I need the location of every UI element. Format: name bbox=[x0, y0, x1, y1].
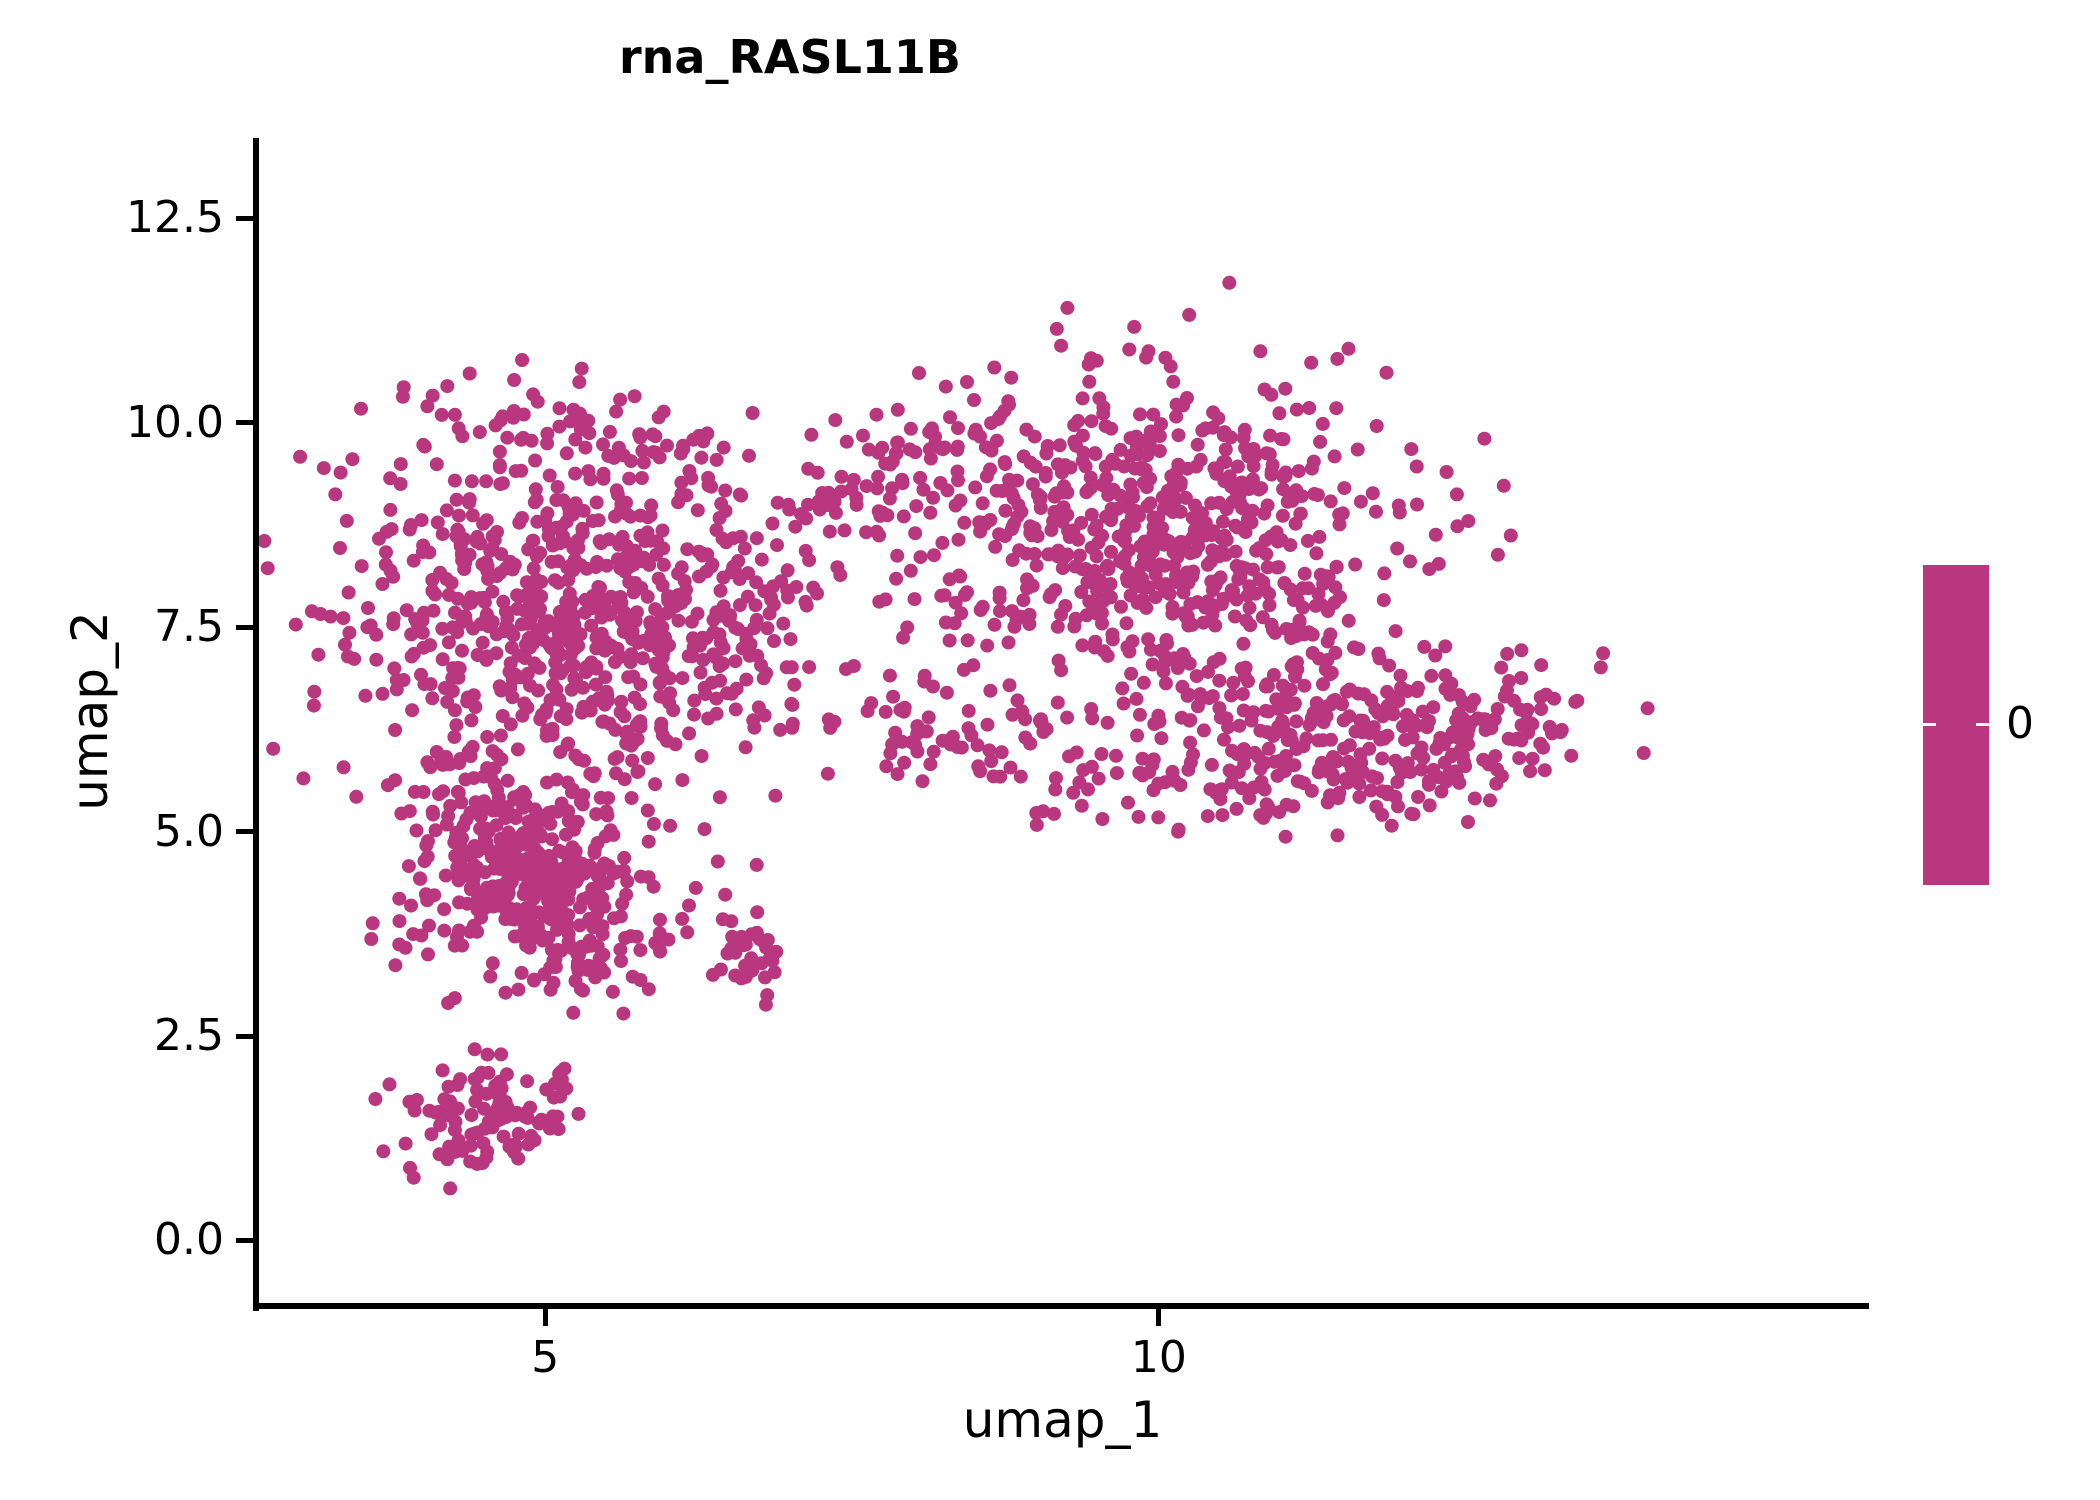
scatter-point bbox=[1283, 490, 1297, 504]
scatter-point bbox=[520, 575, 534, 589]
scatter-point bbox=[449, 718, 463, 732]
scatter-point bbox=[1130, 729, 1144, 743]
scatter-point bbox=[533, 712, 547, 726]
scatter-point bbox=[891, 767, 905, 781]
scatter-point bbox=[314, 607, 328, 621]
scatter-point bbox=[648, 777, 662, 791]
scatter-point bbox=[1006, 553, 1020, 567]
scatter-point bbox=[656, 578, 670, 592]
scatter-point bbox=[800, 599, 814, 613]
scatter-point bbox=[1030, 559, 1044, 573]
scatter-point bbox=[1166, 505, 1180, 519]
x-axis-spine bbox=[253, 1303, 1869, 1309]
scatter-point bbox=[1420, 720, 1434, 734]
scatter-point bbox=[1536, 741, 1550, 755]
scatter-point bbox=[533, 661, 547, 675]
scatter-point bbox=[689, 881, 703, 895]
scatter-point bbox=[1497, 479, 1511, 493]
scatter-point bbox=[621, 670, 635, 684]
scatter-point bbox=[628, 544, 642, 558]
scatter-point bbox=[1641, 701, 1655, 715]
scatter-point bbox=[1079, 459, 1093, 473]
scatter-point bbox=[358, 689, 372, 703]
scatter-point bbox=[1324, 733, 1338, 747]
scatter-point bbox=[1127, 320, 1141, 334]
scatter-point bbox=[1249, 587, 1263, 601]
scatter-point bbox=[684, 471, 698, 485]
scatter-point bbox=[517, 603, 531, 617]
scatter-point bbox=[1199, 421, 1213, 435]
scatter-point bbox=[870, 408, 884, 422]
scatter-point bbox=[1432, 557, 1446, 571]
scatter-point bbox=[1526, 752, 1540, 766]
scatter-point bbox=[480, 1145, 494, 1159]
scatter-point bbox=[607, 866, 621, 880]
scatter-point bbox=[987, 361, 1001, 375]
scatter-point bbox=[431, 516, 445, 530]
scatter-point bbox=[1132, 810, 1146, 824]
scatter-point bbox=[1278, 382, 1292, 396]
scatter-point bbox=[562, 935, 576, 949]
scatter-point bbox=[1270, 561, 1284, 575]
scatter-point bbox=[1298, 567, 1312, 581]
scatter-point bbox=[657, 558, 671, 572]
scatter-point bbox=[879, 705, 893, 719]
scatter-point bbox=[1467, 693, 1481, 707]
scatter-point bbox=[470, 1157, 484, 1171]
scatter-point bbox=[537, 863, 551, 877]
scatter-point bbox=[827, 715, 841, 729]
scatter-point bbox=[1312, 530, 1326, 544]
scatter-point bbox=[889, 572, 903, 586]
scatter-point bbox=[872, 504, 886, 518]
scatter-point bbox=[908, 592, 922, 606]
scatter-point bbox=[379, 558, 393, 572]
scatter-point bbox=[896, 631, 910, 645]
scatter-point bbox=[487, 862, 501, 876]
scatter-point bbox=[1104, 422, 1118, 436]
scatter-point bbox=[633, 431, 647, 445]
scatter-point bbox=[1101, 716, 1115, 730]
scatter-point bbox=[1119, 518, 1133, 532]
scatter-point bbox=[569, 875, 583, 889]
scatter-point bbox=[1170, 398, 1184, 412]
scatter-point bbox=[1201, 558, 1215, 572]
scatter-point bbox=[983, 684, 997, 698]
scatter-point bbox=[1461, 514, 1475, 528]
scatter-point bbox=[763, 951, 777, 965]
scatter-point bbox=[1424, 669, 1438, 683]
scatter-point bbox=[799, 512, 813, 526]
scatter-point bbox=[980, 639, 994, 653]
scatter-point bbox=[1491, 548, 1505, 562]
scatter-point bbox=[392, 892, 406, 906]
scatter-point bbox=[859, 525, 873, 539]
scatter-point bbox=[387, 611, 401, 625]
scatter-point bbox=[608, 752, 622, 766]
scatter-point bbox=[593, 951, 607, 965]
scatter-point bbox=[1051, 457, 1065, 471]
scatter-point bbox=[452, 873, 466, 887]
scatter-point bbox=[538, 514, 552, 528]
scatter-point bbox=[405, 703, 419, 717]
scatter-point bbox=[462, 745, 476, 759]
scatter-point bbox=[448, 1145, 462, 1159]
scatter-point bbox=[572, 375, 586, 389]
scatter-point bbox=[713, 659, 727, 673]
scatter-point bbox=[576, 413, 590, 427]
scatter-point bbox=[448, 703, 462, 717]
scatter-point bbox=[1520, 703, 1534, 717]
scatter-point bbox=[493, 458, 507, 472]
y-tick-mark bbox=[236, 1238, 253, 1243]
scatter-point bbox=[733, 572, 747, 586]
scatter-point bbox=[641, 804, 655, 818]
scatter-point bbox=[1328, 449, 1342, 463]
scatter-point bbox=[607, 911, 621, 925]
scatter-point bbox=[890, 549, 904, 563]
scatter-point bbox=[399, 1137, 413, 1151]
scatter-point bbox=[473, 537, 487, 551]
scatter-point bbox=[1003, 476, 1017, 490]
scatter-point bbox=[716, 571, 730, 585]
scatter-point bbox=[1092, 391, 1106, 405]
scatter-point bbox=[1175, 711, 1189, 725]
scatter-point bbox=[1370, 419, 1384, 433]
scatter-point bbox=[423, 638, 437, 652]
scatter-point bbox=[927, 548, 941, 562]
scatter-point bbox=[293, 450, 307, 464]
scatter-point bbox=[289, 618, 303, 632]
scatter-point bbox=[408, 785, 422, 799]
scatter-point bbox=[1124, 667, 1138, 681]
scatter-point bbox=[632, 715, 646, 729]
scatter-point bbox=[1426, 700, 1440, 714]
scatter-point bbox=[1063, 530, 1077, 544]
scatter-point bbox=[1342, 614, 1356, 628]
scatter-point bbox=[509, 841, 523, 855]
scatter-point bbox=[916, 774, 930, 788]
scatter-point bbox=[1404, 807, 1418, 821]
scatter-point bbox=[1251, 750, 1265, 764]
scatter-point bbox=[1029, 806, 1043, 820]
scatter-point bbox=[397, 673, 411, 687]
scatter-point bbox=[662, 933, 676, 947]
scatter-point bbox=[1162, 534, 1176, 548]
scatter-point bbox=[366, 916, 380, 930]
scatter-point bbox=[478, 595, 492, 609]
scatter-point bbox=[742, 449, 756, 463]
scatter-point bbox=[523, 909, 537, 923]
scatter-point bbox=[781, 563, 795, 577]
scatter-point bbox=[1342, 342, 1356, 356]
scatter-point bbox=[422, 1104, 436, 1118]
scatter-point bbox=[750, 858, 764, 872]
scatter-point bbox=[508, 1108, 522, 1122]
scatter-point bbox=[609, 766, 623, 780]
scatter-point bbox=[535, 830, 549, 844]
scatter-point bbox=[943, 572, 957, 586]
scatter-point bbox=[424, 677, 438, 691]
scatter-point bbox=[1297, 739, 1311, 753]
scatter-point bbox=[1054, 608, 1068, 622]
scatter-point bbox=[543, 469, 557, 483]
scatter-point bbox=[1289, 714, 1303, 728]
scatter-point bbox=[926, 491, 940, 505]
scatter-point bbox=[417, 606, 431, 620]
scatter-point bbox=[838, 523, 852, 537]
scatter-point bbox=[533, 622, 547, 636]
scatter-point bbox=[499, 986, 513, 1000]
scatter-point bbox=[636, 651, 650, 665]
scatter-point bbox=[1109, 749, 1123, 763]
scatter-point bbox=[626, 970, 640, 984]
scatter-point bbox=[1204, 496, 1218, 510]
scatter-point bbox=[476, 517, 490, 531]
scatter-point bbox=[1029, 460, 1043, 474]
scatter-point bbox=[1034, 501, 1048, 515]
scatter-point bbox=[622, 472, 636, 486]
scatter-point bbox=[464, 1139, 478, 1153]
scatter-point bbox=[1122, 343, 1136, 357]
scatter-point bbox=[307, 699, 321, 713]
scatter-point bbox=[633, 943, 647, 957]
scatter-point bbox=[653, 913, 667, 927]
scatter-point bbox=[369, 628, 383, 642]
scatter-point bbox=[1060, 711, 1074, 725]
scatter-point bbox=[680, 542, 694, 556]
scatter-point bbox=[426, 805, 440, 819]
scatter-point bbox=[917, 675, 931, 689]
scatter-point bbox=[1316, 417, 1330, 431]
scatter-point bbox=[962, 704, 976, 718]
scatter-point bbox=[652, 643, 666, 657]
scatter-point bbox=[1342, 709, 1356, 723]
scatter-point bbox=[588, 846, 602, 860]
scatter-point bbox=[1261, 800, 1275, 814]
y-tick-label: 5.0 bbox=[24, 810, 224, 854]
scatter-point bbox=[1290, 403, 1304, 417]
scatter-point bbox=[386, 570, 400, 584]
scatter-point bbox=[567, 671, 581, 685]
scatter-point bbox=[1104, 509, 1118, 523]
scatter-point bbox=[928, 430, 942, 444]
scatter-point bbox=[1324, 494, 1338, 508]
scatter-point bbox=[452, 756, 466, 770]
scatter-point bbox=[954, 606, 968, 620]
scatter-point bbox=[1490, 763, 1504, 777]
scatter-point bbox=[1003, 678, 1017, 692]
scatter-point bbox=[1149, 590, 1163, 604]
scatter-point bbox=[452, 421, 466, 435]
scatter-point bbox=[957, 516, 971, 530]
scatter-point bbox=[766, 517, 780, 531]
scatter-point bbox=[596, 437, 610, 451]
scatter-point bbox=[1174, 535, 1188, 549]
scatter-point bbox=[1164, 359, 1178, 373]
scatter-point bbox=[1380, 366, 1394, 380]
scatter-point bbox=[1444, 730, 1458, 744]
scatter-point bbox=[1263, 429, 1277, 443]
scatter-point bbox=[746, 406, 760, 420]
x-axis-label: umap_1 bbox=[258, 1392, 1867, 1448]
scatter-point bbox=[614, 954, 628, 968]
scatter-point bbox=[1236, 501, 1250, 515]
scatter-point bbox=[596, 927, 610, 941]
scatter-point bbox=[1271, 720, 1285, 734]
scatter-point bbox=[514, 464, 528, 478]
scatter-point bbox=[1302, 401, 1316, 415]
scatter-point bbox=[1596, 646, 1610, 660]
scatter-point bbox=[503, 681, 517, 695]
scatter-point bbox=[923, 506, 937, 520]
scatter-point bbox=[694, 451, 708, 465]
scatter-point bbox=[1096, 407, 1110, 421]
scatter-point bbox=[768, 789, 782, 803]
scatter-point bbox=[380, 525, 394, 539]
scatter-point bbox=[883, 458, 897, 472]
scatter-point bbox=[951, 465, 965, 479]
scatter-point bbox=[423, 760, 437, 774]
scatter-point bbox=[1254, 481, 1268, 495]
scatter-point bbox=[1488, 749, 1502, 763]
scatter-point bbox=[470, 1126, 484, 1140]
scatter-point bbox=[1231, 572, 1245, 586]
scatter-point bbox=[341, 650, 355, 664]
scatter-point bbox=[1074, 516, 1088, 530]
scatter-point bbox=[764, 593, 778, 607]
scatter-point bbox=[1243, 601, 1257, 615]
scatter-point bbox=[828, 413, 842, 427]
scatter-point bbox=[1331, 828, 1345, 842]
scatter-point bbox=[435, 408, 449, 422]
scatter-point bbox=[447, 730, 461, 744]
scatter-point bbox=[898, 701, 912, 715]
scatter-point bbox=[405, 650, 419, 664]
scatter-point bbox=[1114, 489, 1128, 503]
scatter-point bbox=[463, 925, 477, 939]
scatter-point bbox=[554, 610, 568, 624]
scatter-point bbox=[525, 814, 539, 828]
scatter-point bbox=[1297, 776, 1311, 790]
scatter-point bbox=[564, 648, 578, 662]
scatter-point bbox=[1272, 700, 1286, 714]
scatter-point bbox=[1171, 458, 1185, 472]
scatter-point bbox=[694, 666, 708, 680]
scatter-point bbox=[705, 557, 719, 571]
scatter-point bbox=[1051, 620, 1065, 634]
scatter-point bbox=[1534, 658, 1548, 672]
scatter-point bbox=[839, 662, 853, 676]
scatter-point bbox=[1393, 506, 1407, 520]
scatter-point bbox=[646, 427, 660, 441]
scatter-point bbox=[552, 420, 566, 434]
scatter-point bbox=[613, 393, 627, 407]
scatter-point bbox=[1450, 487, 1464, 501]
scatter-point bbox=[761, 621, 775, 635]
scatter-point bbox=[307, 685, 321, 699]
scatter-point bbox=[515, 353, 529, 367]
scatter-point bbox=[734, 489, 748, 503]
scatter-point bbox=[525, 434, 539, 448]
scatter-point bbox=[653, 690, 667, 704]
scatter-point bbox=[1398, 733, 1412, 747]
scatter-point bbox=[1311, 733, 1325, 747]
scatter-point bbox=[455, 644, 469, 658]
scatter-point bbox=[903, 442, 917, 456]
scatter-point bbox=[802, 660, 816, 674]
scatter-point bbox=[486, 956, 500, 970]
scatter-point bbox=[608, 723, 622, 737]
scatter-point bbox=[1222, 276, 1236, 290]
scatter-point bbox=[1205, 758, 1219, 772]
scatter-point bbox=[1212, 674, 1226, 688]
scatter-point bbox=[1030, 818, 1044, 832]
scatter-point bbox=[376, 1144, 390, 1158]
scatter-point bbox=[685, 615, 699, 629]
scatter-point bbox=[624, 655, 638, 669]
scatter-point bbox=[1316, 677, 1330, 691]
scatter-point bbox=[1190, 669, 1204, 683]
scatter-point bbox=[1124, 431, 1138, 445]
scatter-point bbox=[682, 726, 696, 740]
scatter-point bbox=[1477, 432, 1491, 446]
scatter-point bbox=[750, 926, 764, 940]
y-tick-mark bbox=[236, 1034, 253, 1039]
scatter-point bbox=[922, 710, 936, 724]
scatter-point bbox=[993, 586, 1007, 600]
scatter-point bbox=[628, 389, 642, 403]
scatter-point bbox=[545, 642, 559, 656]
scatter-point bbox=[785, 660, 799, 674]
scatter-point bbox=[1326, 750, 1340, 764]
scatter-point bbox=[653, 676, 667, 690]
scatter-point bbox=[709, 692, 723, 706]
scatter-point bbox=[458, 773, 472, 787]
scatter-point bbox=[675, 560, 689, 574]
scatter-point bbox=[897, 509, 911, 523]
scatter-point bbox=[266, 742, 280, 756]
scatter-point bbox=[1197, 723, 1211, 737]
umap-feature-plot: rna_RASL11B 12.510.07.55.02.50.0 510 uma… bbox=[0, 0, 2100, 1500]
scatter-point bbox=[440, 503, 454, 517]
scatter-point bbox=[500, 611, 514, 625]
scatter-point bbox=[980, 469, 994, 483]
scatter-point bbox=[785, 698, 799, 712]
scatter-point bbox=[1371, 647, 1385, 661]
scatter-point bbox=[1073, 549, 1087, 563]
scatter-point bbox=[1153, 429, 1167, 443]
scatter-point bbox=[618, 565, 632, 579]
scatter-point bbox=[1523, 764, 1537, 778]
scatter-point bbox=[540, 427, 554, 441]
scatter-point bbox=[1500, 647, 1514, 661]
scatter-point bbox=[355, 559, 369, 573]
scatter-point bbox=[392, 938, 406, 952]
scatter-point bbox=[493, 445, 507, 459]
scatter-point bbox=[528, 495, 542, 509]
scatter-point bbox=[1514, 643, 1528, 657]
scatter-point bbox=[1352, 790, 1366, 804]
scatter-point bbox=[1041, 547, 1055, 561]
scatter-point bbox=[682, 899, 696, 913]
scatter-point bbox=[1120, 616, 1134, 630]
scatter-point bbox=[1410, 498, 1424, 512]
scatter-point bbox=[631, 764, 645, 778]
scatter-point bbox=[559, 1082, 573, 1096]
scatter-point bbox=[1085, 760, 1099, 774]
scatter-point bbox=[1285, 659, 1299, 673]
